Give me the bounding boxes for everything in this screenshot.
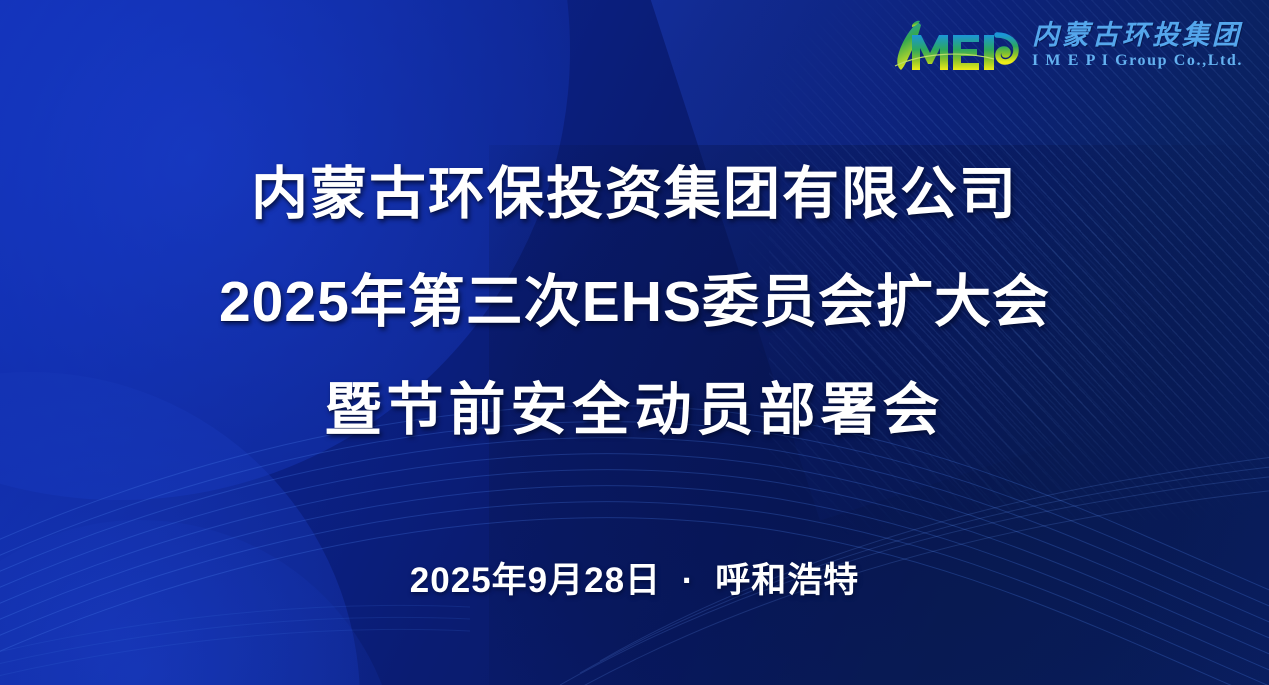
- meta-location: 呼和浩特: [715, 561, 859, 600]
- meta-separator: ·: [672, 561, 705, 600]
- company-logo: 内蒙古环投集团 I M E P I Group Co.,Ltd.: [890, 18, 1243, 74]
- slide-title-block: 内蒙古环保投资集团有限公司 2025年第三次EHS委员会扩大会 暨节前安全动员部…: [0, 140, 1269, 464]
- logo-company-name-en: I M E P I Group Co.,Ltd.: [1032, 52, 1243, 70]
- title-line-3: 暨节前安全动员部署会: [40, 356, 1229, 464]
- title-line-1: 内蒙古环保投资集团有限公司: [40, 140, 1229, 248]
- logo-company-name-cn: 内蒙古环投集团: [1032, 22, 1242, 50]
- slide-meta-line: 2025年9月28日 · 呼和浩特: [0, 552, 1269, 603]
- meta-date: 2025年9月28日: [410, 561, 661, 600]
- conference-title-slide: 内蒙古环投集团 I M E P I Group Co.,Ltd. 内蒙古环保投资…: [0, 0, 1269, 685]
- imepi-leaf-mark-icon: [890, 18, 1020, 74]
- title-line-2: 2025年第三次EHS委员会扩大会: [40, 248, 1229, 356]
